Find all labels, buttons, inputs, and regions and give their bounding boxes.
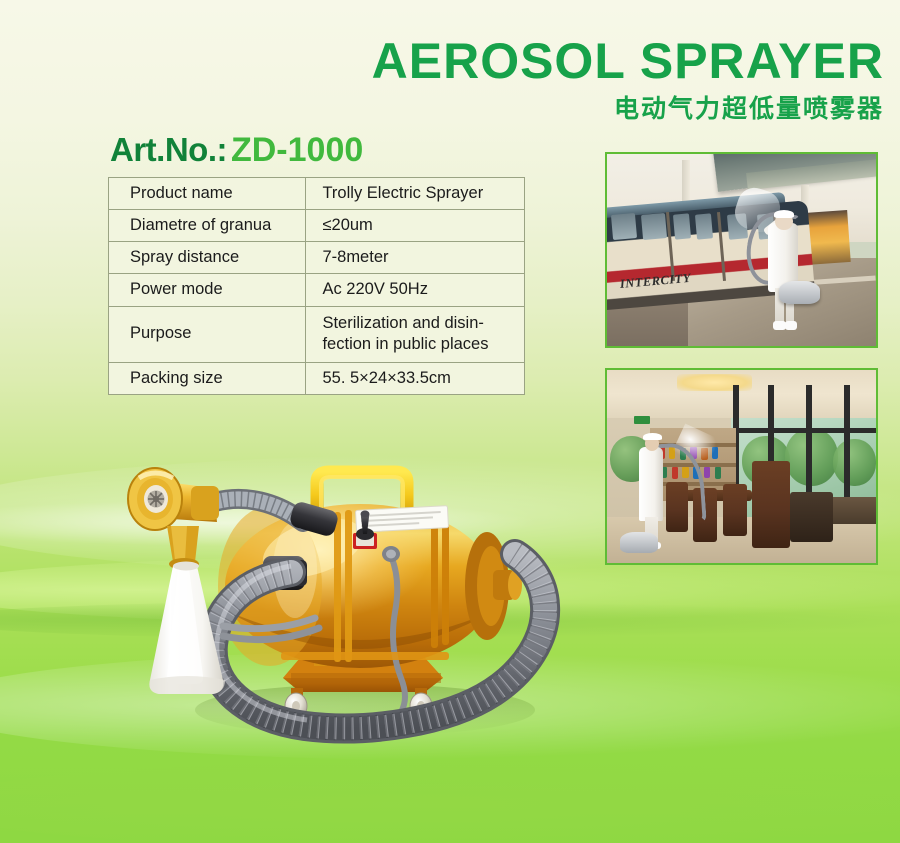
spec-key: Packing size (109, 362, 306, 394)
exit-sign (634, 416, 650, 424)
application-photo-train: INTERCITY (605, 152, 878, 348)
portable-sprayer-unit (779, 281, 819, 304)
ceiling-light (677, 374, 752, 391)
worker-shoe (785, 321, 797, 330)
table-row: Diametre of granua ≤20um (109, 210, 525, 242)
photo-restaurant-scene (607, 370, 876, 563)
poster-canvas: AEROSOL SPRAYER 电动气力超低量喷雾器 Art.No.:ZD-10… (0, 0, 900, 843)
page-subtitle-chinese: 电动气力超低量喷雾器 (372, 96, 884, 121)
window-transom (725, 428, 876, 433)
headline-block: AEROSOL SPRAYER 电动气力超低量喷雾器 (372, 36, 884, 121)
spec-value: Sterilization and disin- fection in publ… (306, 306, 525, 362)
photo-train-scene: INTERCITY (607, 154, 876, 346)
product-image-sprayer (95, 430, 615, 830)
spec-value: Ac 220V 50Hz (306, 274, 525, 306)
specification-table: Product name Trolly Electric Sprayer Dia… (108, 177, 525, 395)
table-row: Packing size 55. 5×24×33.5cm (109, 362, 525, 394)
application-photo-restaurant (605, 368, 878, 565)
table-row: Spray distance 7-8meter (109, 242, 525, 274)
spec-value-line-2: fection in public places (322, 334, 524, 354)
spec-key: Purpose (109, 306, 306, 362)
dining-chair (723, 484, 747, 536)
worker-coat (639, 447, 663, 520)
spec-value: ≤20um (306, 210, 525, 242)
spec-value: Trolly Electric Sprayer (306, 178, 525, 210)
portable-sprayer-unit (620, 532, 658, 553)
spec-value: 55. 5×24×33.5cm (306, 362, 525, 394)
spec-value-line-1: Sterilization and disin- (322, 313, 524, 333)
shelf-bottle (715, 467, 721, 479)
dining-chair (790, 492, 833, 542)
spec-key: Product name (109, 178, 306, 210)
worker-cap (643, 433, 662, 441)
spec-key: Spray distance (109, 242, 306, 274)
spec-value: 7-8meter (306, 242, 525, 274)
shelf-bottle (704, 467, 710, 479)
dining-chair (752, 461, 790, 548)
trolley-rail (281, 652, 449, 660)
article-number-label: Art.No.: (110, 131, 227, 168)
worker-shoe (773, 321, 785, 330)
train-window (673, 213, 691, 239)
table-row: Power mode Ac 220V 50Hz (109, 274, 525, 306)
train-window (641, 213, 667, 240)
spray-disc (148, 491, 165, 508)
table-row: Product name Trolly Electric Sprayer (109, 178, 525, 210)
train-window (695, 213, 713, 239)
article-number-value: ZD-1000 (231, 131, 363, 169)
table-row: Purpose Sterilization and disin- fection… (109, 306, 525, 362)
spray-nozzle (128, 468, 219, 570)
page-title: AEROSOL SPRAYER (372, 36, 884, 86)
worker-cap (774, 210, 794, 219)
outdoor-tree (833, 439, 876, 485)
spec-key: Power mode (109, 274, 306, 306)
product-label (355, 506, 448, 533)
article-number: Art.No.:ZD-1000 (110, 133, 363, 167)
train-window (611, 213, 637, 240)
spec-key: Diametre of granua (109, 210, 306, 242)
